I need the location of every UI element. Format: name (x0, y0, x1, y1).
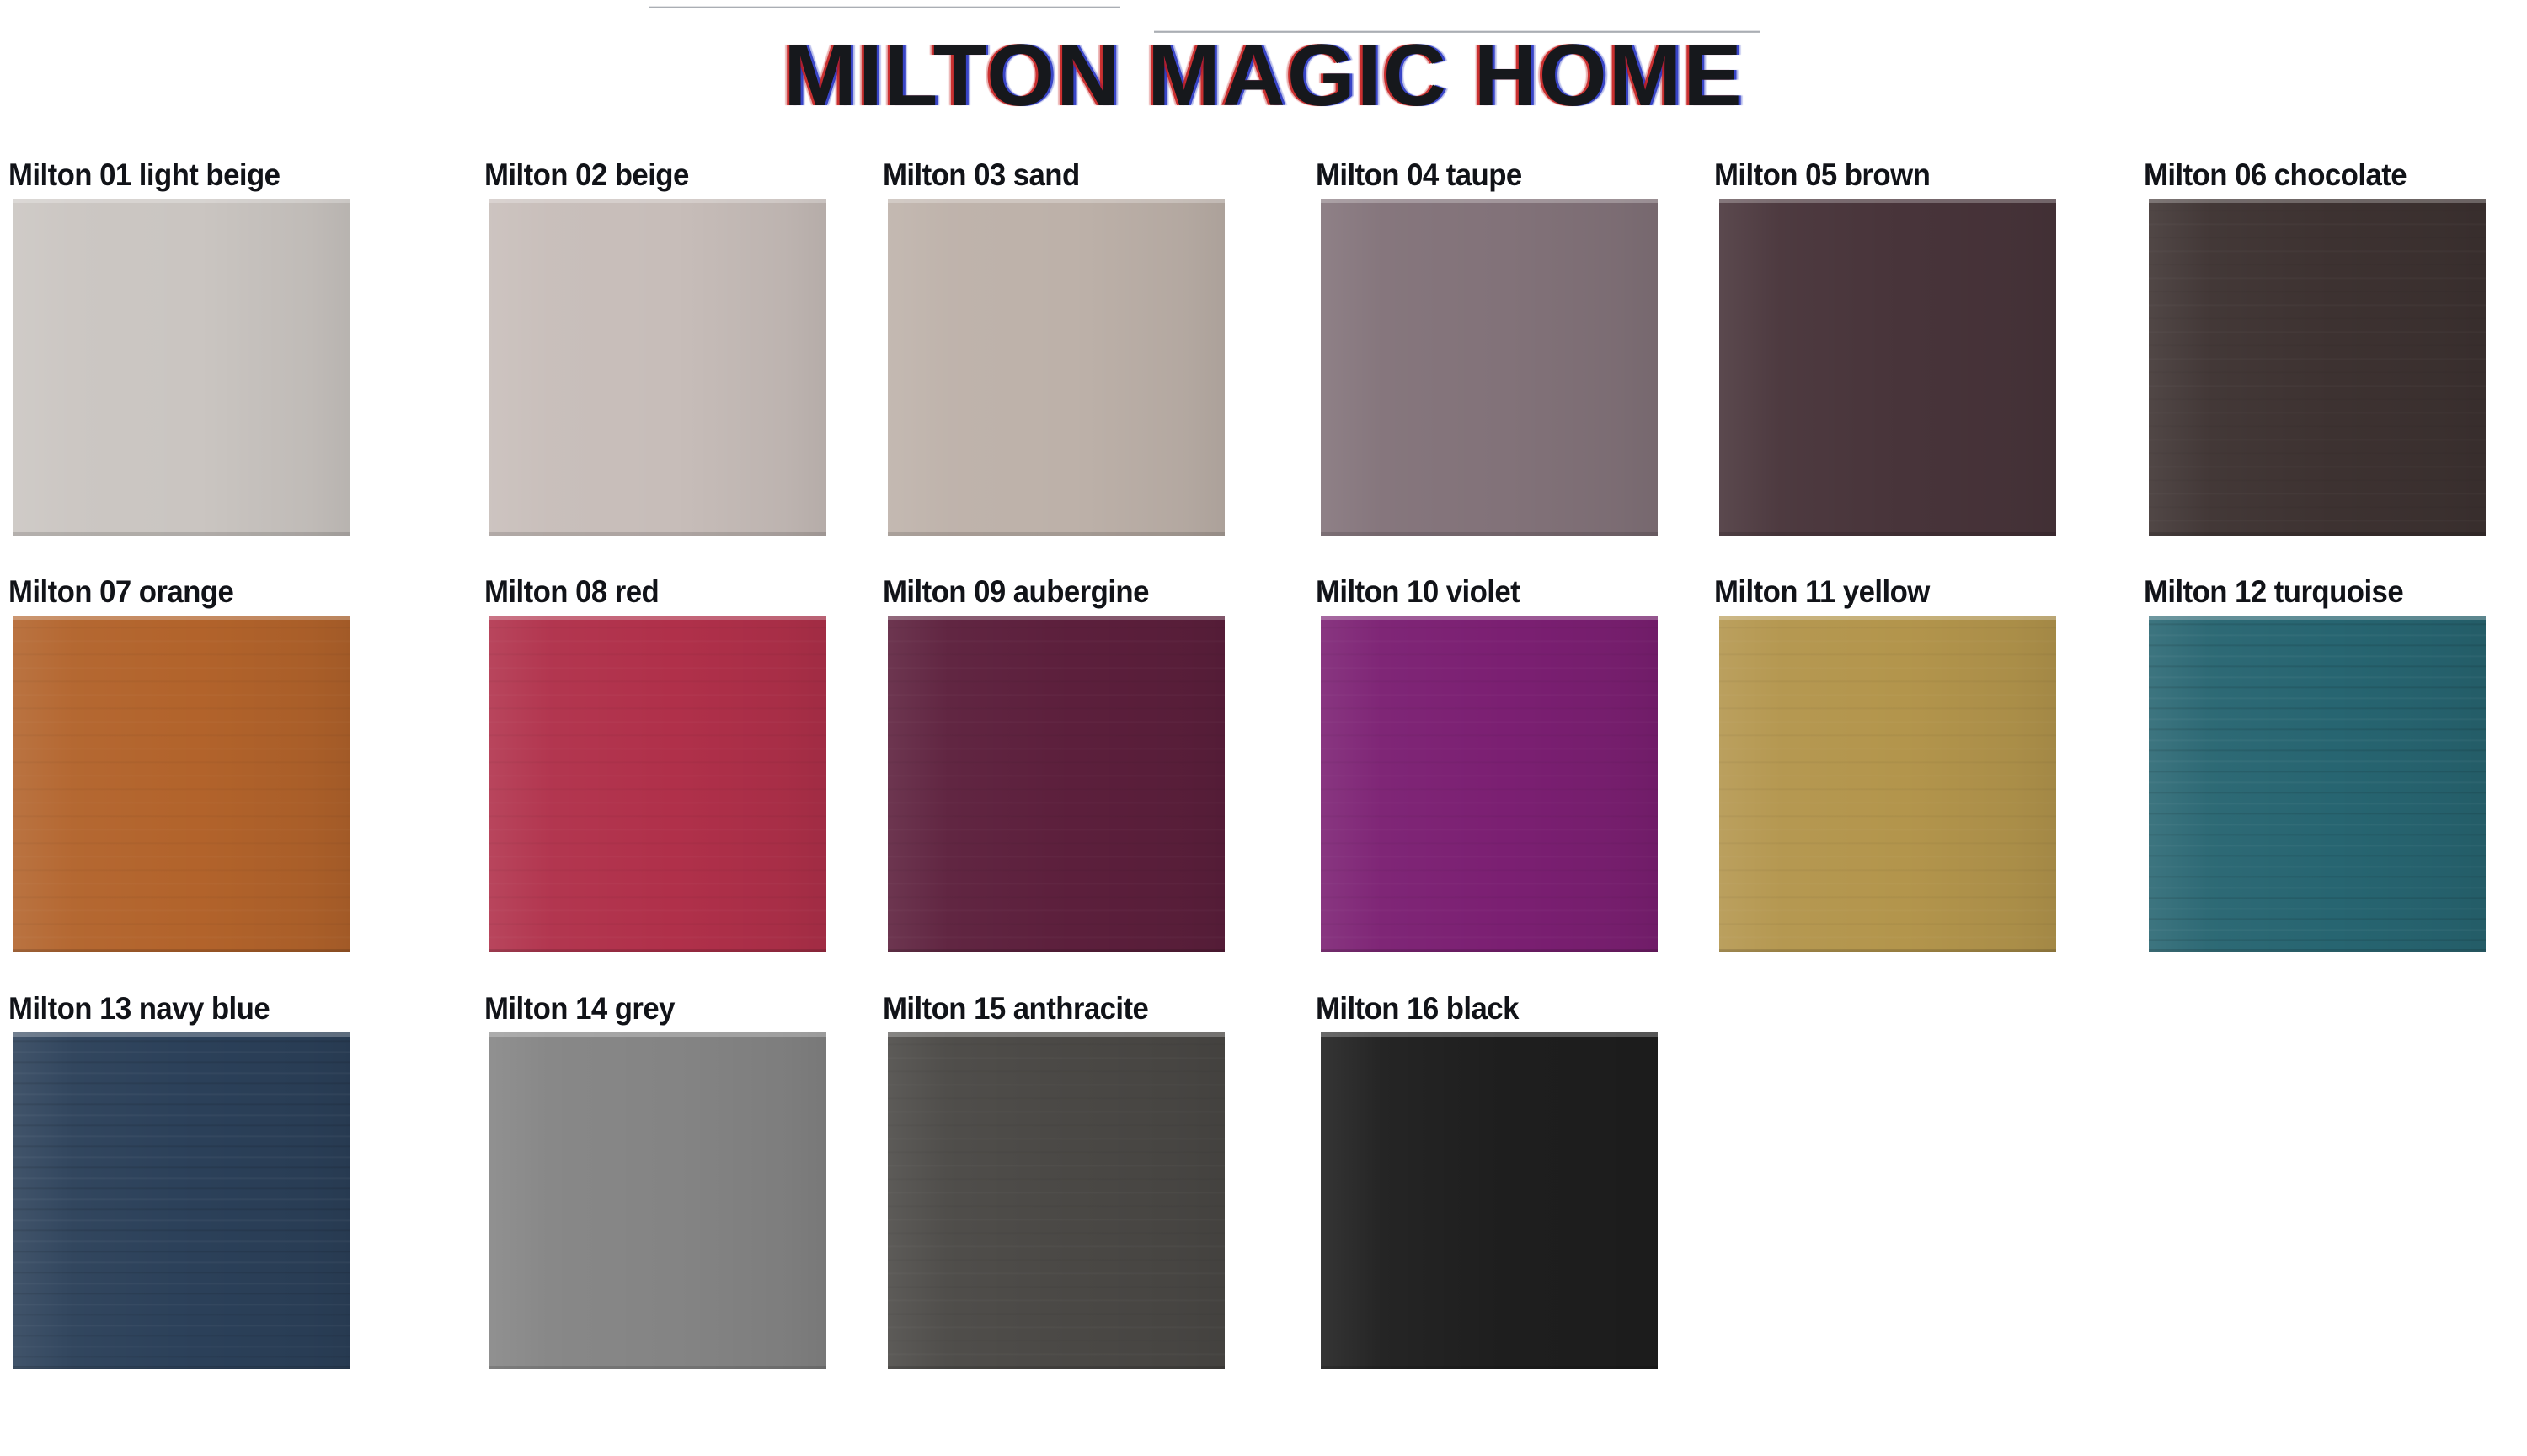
swatch-tile[interactable] (2149, 616, 2486, 952)
swatch-label: Milton 10 violet (1316, 573, 1648, 616)
swatch-cell[interactable]: Milton 13 navy blue (8, 990, 362, 1369)
swatch-cell[interactable]: Milton 03 sand (883, 157, 1237, 536)
swatch-color (1321, 616, 1658, 952)
swatch-label: Milton 09 aubergine (883, 573, 1215, 616)
swatch-label: Milton 03 sand (883, 157, 1215, 199)
header-rule-top (649, 6, 1120, 8)
swatch-tile[interactable] (888, 199, 1225, 536)
title-container: MILTON MAGIC HOME (0, 32, 2527, 133)
swatch-color (13, 199, 350, 536)
swatch-label: Milton 07 orange (8, 573, 341, 616)
swatch-label: Milton 02 beige (484, 157, 817, 199)
swatch-color (489, 1032, 826, 1369)
swatch-cell[interactable]: Milton 16 black (1316, 990, 1670, 1369)
swatch-tile[interactable] (13, 616, 350, 952)
swatch-tile[interactable] (489, 616, 826, 952)
swatch-tile[interactable] (1321, 616, 1658, 952)
swatch-tile[interactable] (888, 616, 1225, 952)
swatch-tile[interactable] (888, 1032, 1225, 1369)
swatch-cell[interactable]: Milton 02 beige (484, 157, 838, 536)
swatch-label: Milton 08 red (484, 573, 817, 616)
swatch-color (13, 1032, 350, 1369)
swatch-cell[interactable]: Milton 10 violet (1316, 573, 1670, 952)
swatch-color (1719, 199, 2056, 536)
swatch-cell[interactable]: Milton 04 taupe (1316, 157, 1670, 536)
swatch-grid: Milton 01 light beigeMilton 02 beigeMilt… (0, 157, 2527, 1407)
swatch-label: Milton 05 brown (1714, 157, 2047, 199)
page-title: MILTON MAGIC HOME (783, 32, 1743, 120)
swatch-cell[interactable]: Milton 14 grey (484, 990, 838, 1369)
swatch-label: Milton 04 taupe (1316, 157, 1648, 199)
swatch-color (2149, 616, 2486, 952)
swatch-label: Milton 01 light beige (8, 157, 341, 199)
swatch-color (888, 616, 1225, 952)
swatch-cell[interactable]: Milton 08 red (484, 573, 838, 952)
swatch-row: Milton 01 light beigeMilton 02 beigeMilt… (0, 157, 2527, 573)
swatch-color (489, 199, 826, 536)
swatch-tile[interactable] (1719, 616, 2056, 952)
swatch-label: Milton 12 turquoise (2144, 573, 2476, 616)
swatch-tile[interactable] (1719, 199, 2056, 536)
swatch-color (1321, 1032, 1658, 1369)
swatch-color (888, 1032, 1225, 1369)
swatch-tile[interactable] (2149, 199, 2486, 536)
swatch-color (2149, 199, 2486, 536)
swatch-label: Milton 14 grey (484, 990, 817, 1032)
swatch-color (888, 199, 1225, 536)
swatch-tile[interactable] (489, 199, 826, 536)
swatch-color (1321, 199, 1658, 536)
swatch-label: Milton 15 anthracite (883, 990, 1215, 1032)
swatch-row: Milton 13 navy blueMilton 14 greyMilton … (0, 990, 2527, 1407)
swatch-tile[interactable] (13, 199, 350, 536)
swatch-color (13, 616, 350, 952)
swatch-label: Milton 13 navy blue (8, 990, 341, 1032)
swatch-cell[interactable]: Milton 06 chocolate (2144, 157, 2498, 536)
swatch-cell[interactable]: Milton 05 brown (1714, 157, 2068, 536)
swatch-color (489, 616, 826, 952)
swatch-color (1719, 616, 2056, 952)
swatch-label: Milton 11 yellow (1714, 573, 2047, 616)
swatch-cell[interactable]: Milton 07 orange (8, 573, 362, 952)
swatch-cell[interactable]: Milton 01 light beige (8, 157, 362, 536)
swatch-cell[interactable]: Milton 15 anthracite (883, 990, 1237, 1369)
swatch-tile[interactable] (489, 1032, 826, 1369)
swatch-cell[interactable]: Milton 09 aubergine (883, 573, 1237, 952)
swatch-cell[interactable]: Milton 11 yellow (1714, 573, 2068, 952)
swatch-tile[interactable] (1321, 1032, 1658, 1369)
swatch-tile[interactable] (1321, 199, 1658, 536)
swatch-cell[interactable]: Milton 12 turquoise (2144, 573, 2498, 952)
swatch-row: Milton 07 orangeMilton 08 redMilton 09 a… (0, 573, 2527, 990)
swatch-label: Milton 06 chocolate (2144, 157, 2476, 199)
swatch-tile[interactable] (13, 1032, 350, 1369)
swatch-label: Milton 16 black (1316, 990, 1648, 1032)
